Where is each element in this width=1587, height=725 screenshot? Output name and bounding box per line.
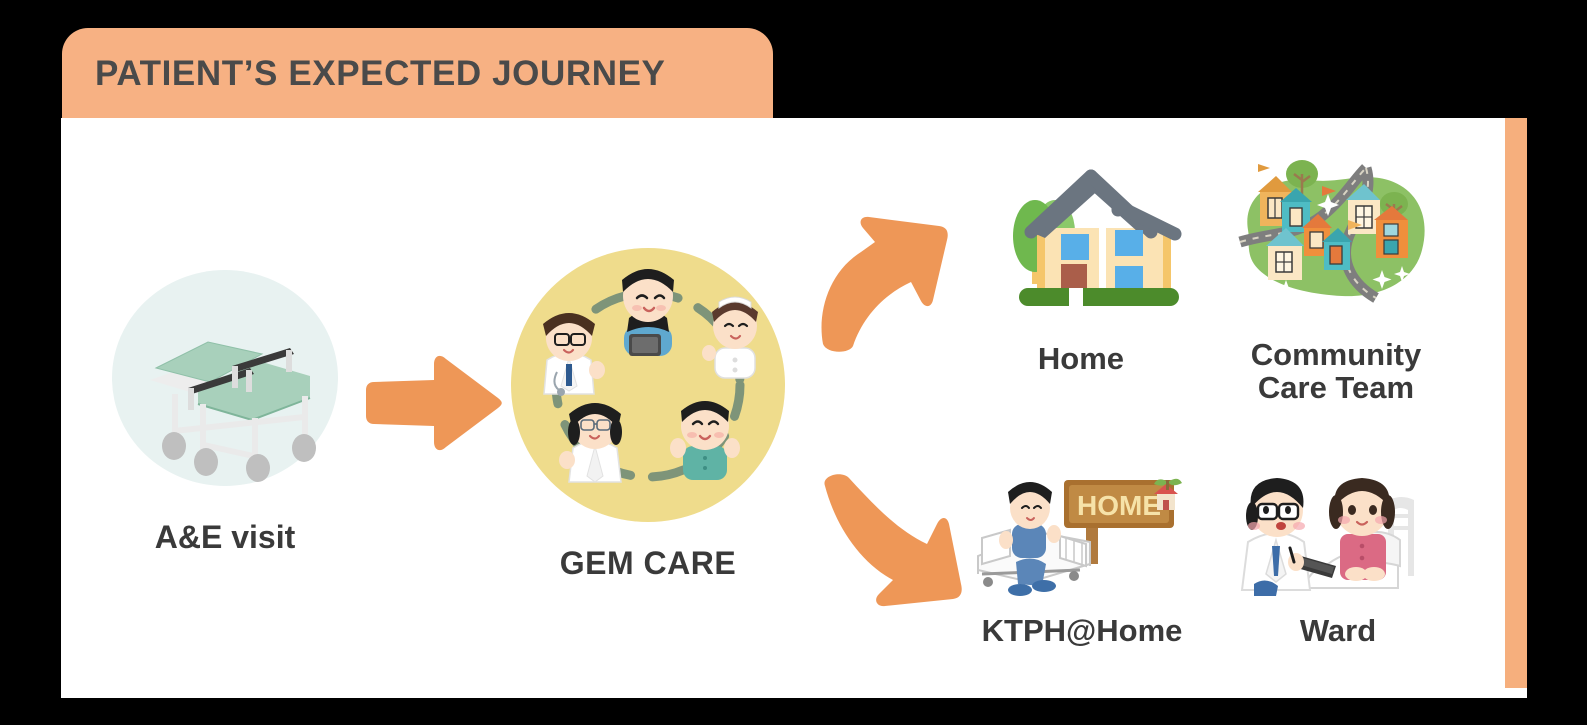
ae-visit-icon-background	[112, 270, 338, 486]
journey-node-home[interactable]: Home	[975, 160, 1187, 375]
team-member-patient-tablet	[622, 269, 674, 356]
card-accent-bar	[1505, 118, 1527, 688]
ktph-at-home-label: KTPH@Home	[982, 614, 1183, 647]
cct-label-line2: Care Team	[1258, 370, 1414, 405]
arrow-right-icon	[358, 348, 508, 458]
arrow-curve-down-icon	[815, 462, 965, 614]
journey-node-community-care-team[interactable]: Community Care Team	[1230, 158, 1442, 405]
home-label: Home	[1038, 342, 1124, 375]
hospital-gurney-icon	[112, 270, 338, 486]
ward-icon-box	[1236, 470, 1440, 602]
ward-label: Ward	[1300, 614, 1376, 647]
community-care-team-label: Community Care Team	[1251, 338, 1422, 405]
arrow-gem-to-ktph	[815, 462, 965, 614]
journey-node-ktph-at-home[interactable]: HOME	[968, 470, 1196, 647]
house-with-trees-icon	[975, 160, 1187, 320]
ae-visit-label: A&E visit	[155, 520, 295, 555]
arrow-ae-to-gem	[358, 348, 508, 458]
journey-node-ae-visit[interactable]: A&E visit	[105, 270, 345, 555]
patient-on-bed-home-sign-icon: HOME	[968, 470, 1196, 602]
team-member-female-doctor	[559, 403, 622, 482]
team-member-male-doctor	[543, 313, 605, 396]
gem-care-icon-background	[511, 248, 785, 522]
ktph-at-home-icon-box: HOME	[968, 470, 1196, 602]
journey-node-ward[interactable]: Ward	[1236, 470, 1440, 647]
doctor-and-patient-in-bed-icon	[1236, 470, 1440, 602]
community-care-team-icon-box	[1230, 158, 1442, 320]
home-icon-box	[975, 160, 1187, 320]
header-tab: PATIENT’S EXPECTED JOURNEY	[62, 28, 773, 120]
gem-care-label: GEM CARE	[560, 546, 736, 581]
svg-text:HOME: HOME	[1077, 490, 1161, 521]
team-member-nurse	[702, 297, 758, 378]
page-title: PATIENT’S EXPECTED JOURNEY	[95, 54, 666, 94]
arrow-gem-to-home	[815, 212, 965, 352]
arrow-curve-up-icon	[815, 212, 965, 352]
care-team-circle-icon	[511, 248, 785, 522]
infographic-canvas: PATIENT’S EXPECTED JOURNEY	[0, 0, 1587, 725]
cct-label-line1: Community	[1251, 337, 1422, 372]
neighborhood-map-icon	[1230, 158, 1442, 320]
journey-node-gem-care[interactable]: GEM CARE	[508, 248, 788, 581]
